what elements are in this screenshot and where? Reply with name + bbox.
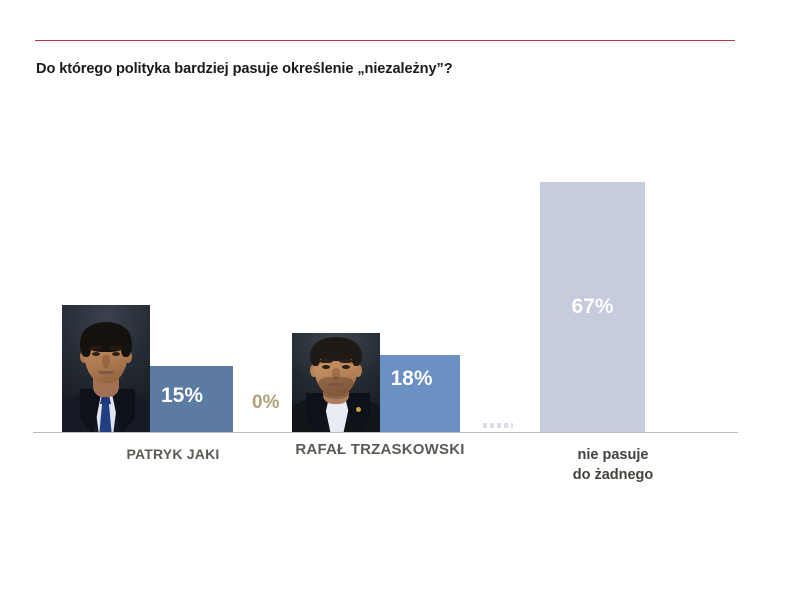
mouth bbox=[98, 371, 114, 374]
header-divider-line bbox=[35, 40, 735, 41]
hair-side-left bbox=[310, 346, 320, 366]
eye-left bbox=[322, 365, 330, 369]
hair-side-right bbox=[121, 333, 132, 357]
bar-value-label-zero: 0% bbox=[252, 392, 279, 414]
eyebrow-left bbox=[319, 359, 333, 363]
eye-right bbox=[112, 352, 120, 356]
category-label-patryk-jaki: PATRYK JAKI bbox=[78, 446, 268, 462]
eyebrow-left bbox=[89, 346, 103, 350]
nose bbox=[102, 355, 110, 368]
slide-canvas: Do którego polityka bardziej pasuje okre… bbox=[0, 0, 788, 591]
page-title: Do którego polityka bardziej pasuje okre… bbox=[36, 61, 736, 77]
category-label-nie-pasuje: nie pasuje do żadnego bbox=[528, 445, 698, 485]
axis-tick-ghost bbox=[483, 423, 513, 428]
hair-side-left bbox=[80, 333, 91, 357]
eyebrow-right bbox=[339, 359, 353, 363]
category-label-line2: do żadnego bbox=[528, 465, 698, 485]
category-label-line1: nie pasuje bbox=[528, 445, 698, 465]
lapel-pin bbox=[356, 407, 361, 412]
bar-value-label: 67% bbox=[540, 295, 645, 319]
hair-side-right bbox=[352, 346, 362, 366]
category-label-rafal-trzaskowski: RAFAŁ TRZASKOWSKI bbox=[255, 441, 505, 458]
portrait-rafal-trzaskowski bbox=[292, 333, 380, 432]
eye-right bbox=[342, 365, 350, 369]
mouth bbox=[328, 383, 344, 386]
beard-stubble bbox=[318, 377, 354, 399]
eye-left bbox=[92, 352, 100, 356]
category-axis-line bbox=[33, 432, 738, 433]
eyebrow-right bbox=[109, 346, 123, 350]
portrait-patryk-jaki bbox=[62, 305, 150, 432]
bar-nie-pasuje-do-zadnego[interactable]: 67% bbox=[540, 182, 645, 432]
